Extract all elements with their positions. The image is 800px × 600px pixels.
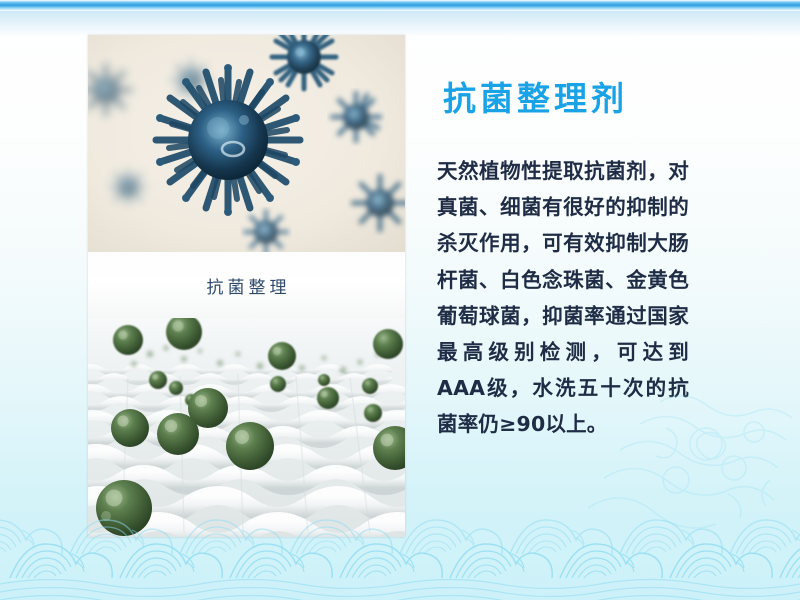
page-title: 抗菌整理剂 [443, 72, 723, 120]
fabric-photo [88, 318, 405, 537]
fabric-photo-graphic [88, 318, 405, 537]
image-stack: 抗菌整理 [88, 35, 405, 537]
body-paragraph: 天然植物性提取抗菌剂，对真菌、细菌有很好的抑制的杀灭作用，可有效抑制大肠杆菌、白… [437, 153, 689, 443]
virus-photo [88, 35, 405, 252]
slide-canvas: 抗菌整理 [0, 0, 800, 600]
virus-photo-graphic [88, 35, 405, 252]
top-accent-bar [0, 0, 800, 11]
image-caption-band: 抗菌整理 [88, 252, 405, 318]
image-caption-text: 抗菌整理 [203, 273, 291, 298]
top-accent-bar-fade [0, 11, 800, 37]
